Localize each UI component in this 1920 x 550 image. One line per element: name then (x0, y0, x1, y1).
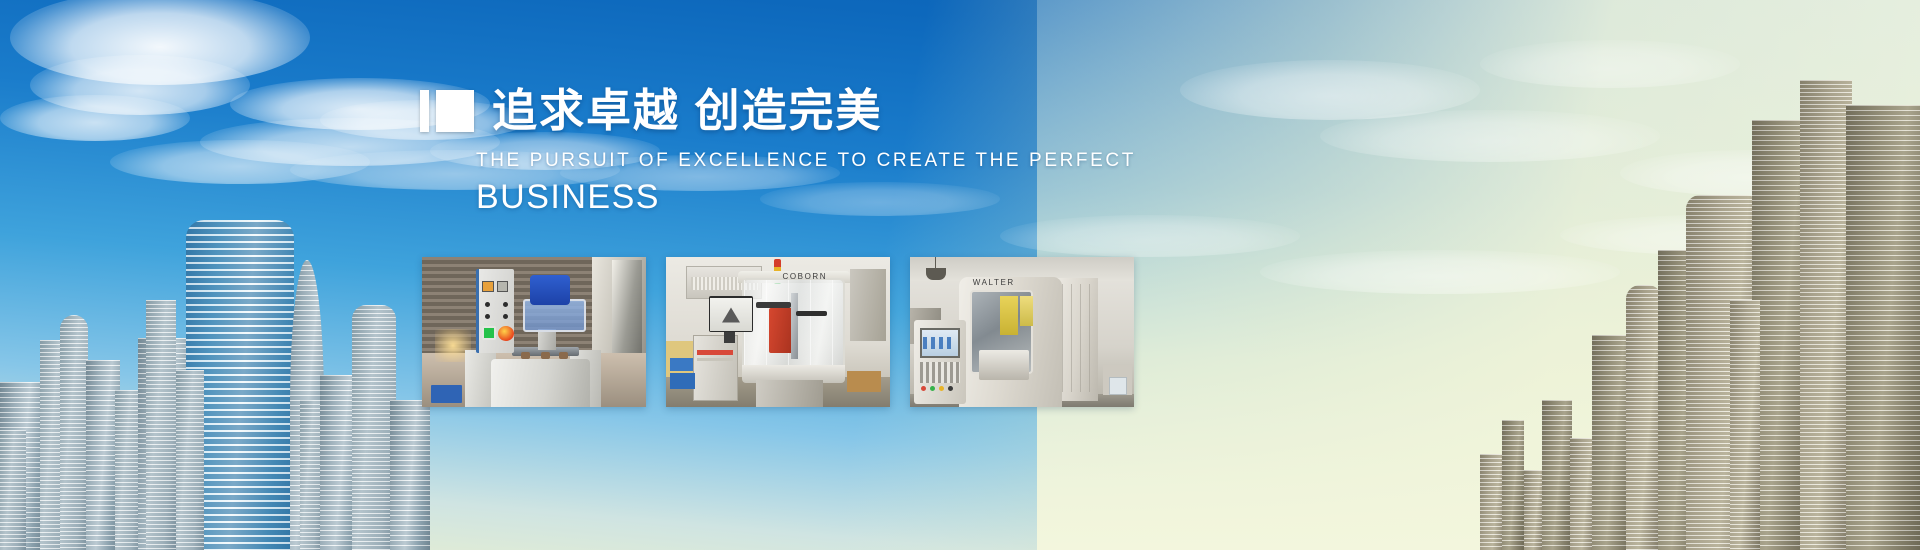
photo-cnc-vertical-machining-centre[interactable] (422, 257, 646, 407)
company-hero-banner: 追求卓越 创造完美 THE PURSUIT OF EXCELLENCE TO C… (0, 0, 1920, 550)
photo-3-brand-caption: WALTER (973, 278, 1015, 287)
photo-coborn-rotary-grinder[interactable]: COBORN (666, 257, 890, 407)
photo-walter-tool-grinder[interactable]: WALTER (910, 257, 1134, 407)
photo-2-brand-caption: COBORN (782, 272, 827, 281)
subtitle-english: THE PURSUIT OF EXCELLENCE TO CREATE THE … (476, 150, 1180, 172)
business-word: BUSINESS (476, 180, 1180, 216)
machine-photo-strip: COBORN WALTER (422, 257, 1134, 407)
bar-and-square-mark-icon (420, 90, 474, 132)
headline-row: 追求卓越 创造完美 (420, 88, 1180, 133)
headline-chinese: 追求卓越 创造完美 (492, 88, 883, 133)
mark-square-icon (436, 90, 474, 132)
mark-bar-icon (420, 90, 429, 132)
sky-warm-overlay (1037, 0, 1920, 550)
slogan-block: 追求卓越 创造完美 THE PURSUIT OF EXCELLENCE TO C… (420, 88, 1180, 216)
